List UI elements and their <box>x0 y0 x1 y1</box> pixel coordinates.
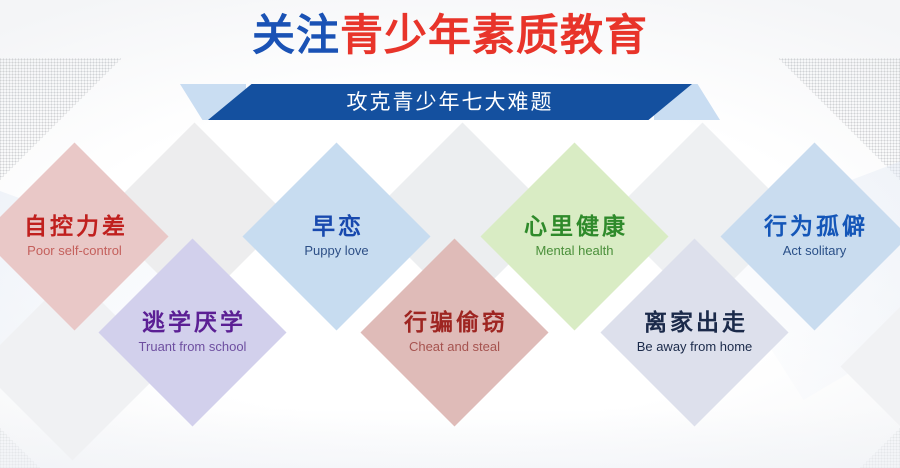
problem-label-en: Poor self-control <box>27 244 122 259</box>
problem-label-en: Mental health <box>535 244 613 259</box>
problem-diamond-content: 离家出走Be away from home <box>628 266 761 399</box>
problem-label-cn: 早恋 <box>309 214 364 240</box>
problem-diamond[interactable]: 行为孤僻Act solitary <box>720 142 900 330</box>
problem-diamond-content: 行骗偷窃Cheat and steal <box>388 266 521 399</box>
problem-label-cn: 自控力差 <box>21 214 128 240</box>
problem-label-cn: 行骗偷窃 <box>401 310 508 336</box>
problem-diamond-content: 心里健康Mental health <box>508 170 641 303</box>
problem-label-en: Cheat and steal <box>409 340 500 355</box>
problem-diamond-content: 早恋Puppy love <box>270 170 403 303</box>
problem-diamond-content: 自控力差Poor self-control <box>8 170 141 303</box>
problem-label-cn: 心里健康 <box>521 214 628 240</box>
problem-label-en: Puppy love <box>304 244 368 259</box>
problem-diamond[interactable]: 逃学厌学Truant from school <box>98 238 286 426</box>
problem-label-cn: 逃学厌学 <box>139 310 246 336</box>
problem-diamond-grid: 自控力差Poor self-control逃学厌学Truant from sch… <box>0 0 900 468</box>
problem-label-cn: 离家出走 <box>641 310 748 336</box>
problem-label-en: Be away from home <box>637 340 753 355</box>
problem-diamond-content: 行为孤僻Act solitary <box>748 170 881 303</box>
problem-diamond-content: 逃学厌学Truant from school <box>126 266 259 399</box>
problem-label-en: Act solitary <box>783 244 847 259</box>
poster-canvas: 关注青少年素质教育 攻克青少年七大难题 自控力差Poor self-contro… <box>0 0 900 468</box>
problem-label-en: Truant from school <box>139 340 247 355</box>
problem-label-cn: 行为孤僻 <box>761 214 868 240</box>
